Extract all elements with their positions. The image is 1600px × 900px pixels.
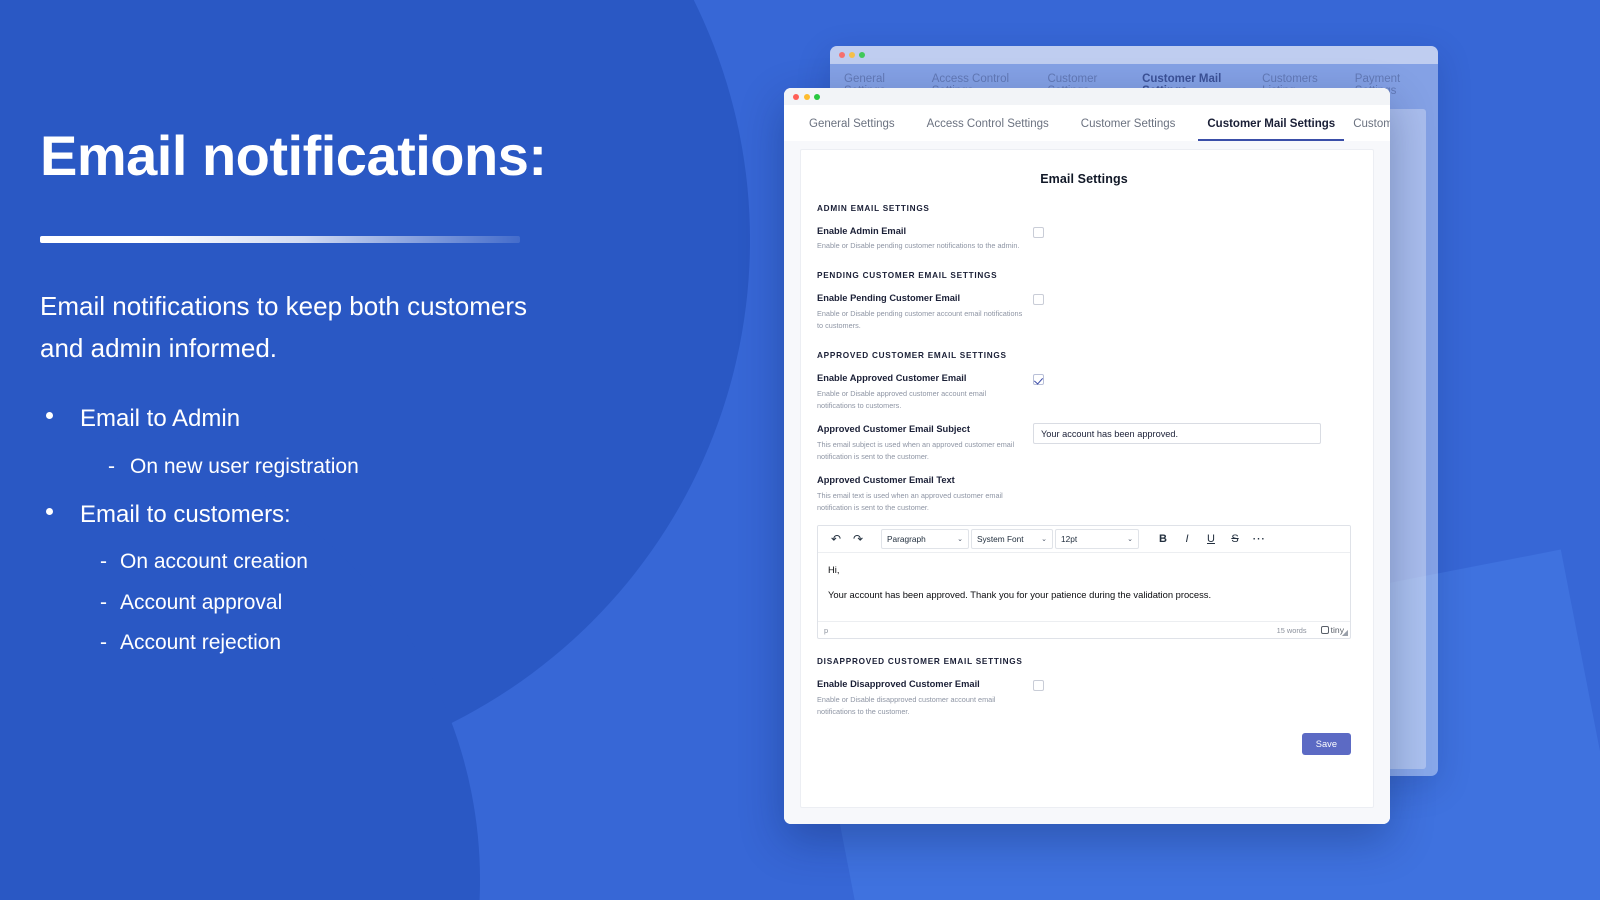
save-button[interactable]: Save	[1302, 733, 1351, 755]
editor-paragraph-2: Your account has been approved. Thank yo…	[828, 588, 1340, 602]
field-help-text: This email text is used when an approved…	[817, 490, 1025, 516]
field-label: Enable Approved Customer Email	[817, 372, 1025, 385]
list-item: Email to customers:	[40, 499, 700, 531]
field-label-col: Approved Customer Email Subject This ema…	[817, 423, 1025, 464]
field-help-text: This email subject is used when an appro…	[817, 439, 1025, 465]
field-label-col: Enable Pending Customer Email Enable or …	[817, 292, 1025, 333]
tab-general-settings[interactable]: General Settings	[800, 115, 904, 141]
field-label: Enable Disapproved Customer Email	[817, 678, 1025, 691]
tinymce-brand: tiny	[1321, 625, 1344, 635]
field-enable-admin-email: Enable Admin Email Enable or Disable pen…	[817, 225, 1351, 253]
underline-icon[interactable]: U	[1200, 533, 1222, 545]
chevron-down-icon: ⌄	[1041, 535, 1047, 543]
field-control-col	[1025, 225, 1351, 243]
tab-customers-listing[interactable]: Customers Listing	[1344, 115, 1390, 141]
bullet-sub-label: On new user registration	[130, 455, 359, 478]
settings-content-area: Email Settings ADMIN EMAIL SETTINGS Enab…	[784, 141, 1390, 824]
list-item: - Account approval	[40, 588, 700, 617]
close-icon[interactable]	[793, 94, 799, 100]
field-enable-approved-customer-email: Enable Approved Customer Email Enable or…	[817, 372, 1351, 413]
feature-sub-list: - On account creation - Account approval…	[40, 547, 700, 657]
field-control-col	[1025, 372, 1351, 390]
field-label-col: Enable Admin Email Enable or Disable pen…	[817, 225, 1025, 253]
block-format-select[interactable]: Paragraph ⌄	[881, 529, 969, 549]
tab-customer-mail-settings[interactable]: Customer Mail Settings	[1198, 115, 1344, 141]
field-label: Enable Admin Email	[817, 225, 1025, 238]
list-item: - Account rejection	[40, 628, 700, 657]
undo-icon[interactable]: ↶	[826, 529, 846, 549]
minimize-icon	[849, 52, 855, 58]
checkbox-enable-approved-customer-email[interactable]	[1033, 374, 1044, 385]
element-path[interactable]: p	[824, 626, 1277, 635]
more-options-icon[interactable]: ⋯	[1252, 531, 1266, 547]
field-label: Enable Pending Customer Email	[817, 292, 1025, 305]
list-item: Email to Admin	[40, 403, 700, 435]
editor-content-area[interactable]: Hi, Your account has been approved. Than…	[818, 553, 1350, 621]
maximize-icon	[859, 52, 865, 58]
rich-text-editor: ↶ ↷ Paragraph ⌄ System Font ⌄ 12pt ⌄	[817, 525, 1351, 639]
maximize-icon[interactable]	[814, 94, 820, 100]
promo-subhead: Email notifications to keep both custome…	[40, 285, 570, 369]
approved-customer-email-subject-input[interactable]	[1033, 423, 1321, 444]
promo-panel: Email notifications: Email notifications…	[40, 128, 700, 676]
feature-bullet-list: Email to Admin - On new user registratio…	[40, 403, 700, 657]
block-format-value: Paragraph	[887, 534, 926, 544]
bullet-dot-icon	[46, 412, 53, 419]
resize-handle-icon[interactable]: ◢	[1342, 628, 1348, 637]
field-enable-disapproved-customer-email: Enable Disapproved Customer Email Enable…	[817, 678, 1351, 719]
window-chrome-bar-back	[830, 46, 1438, 64]
tab-access-control-settings[interactable]: Access Control Settings	[918, 115, 1058, 141]
page-title: Email notifications:	[40, 128, 700, 184]
section-heading-admin: ADMIN EMAIL SETTINGS	[817, 204, 1351, 213]
close-icon	[839, 52, 845, 58]
chevron-down-icon: ⌄	[957, 535, 963, 543]
dash-icon: -	[100, 588, 107, 617]
section-heading-pending: PENDING CUSTOMER EMAIL SETTINGS	[817, 271, 1351, 280]
minimize-icon[interactable]	[804, 94, 810, 100]
browser-window: General Settings Access Control Settings…	[784, 88, 1390, 824]
field-help-text: Enable or Disable pending customer accou…	[817, 308, 1025, 334]
bullet-label: Email to customers:	[80, 501, 291, 528]
field-label: Approved Customer Email Subject	[817, 423, 1025, 436]
save-row: Save	[817, 733, 1351, 755]
editor-toolbar: ↶ ↷ Paragraph ⌄ System Font ⌄ 12pt ⌄	[818, 526, 1350, 553]
word-count: 15 words	[1277, 626, 1307, 635]
title-divider	[40, 236, 520, 243]
bold-icon[interactable]: B	[1152, 533, 1174, 545]
list-item: - On account creation	[40, 547, 700, 576]
checkbox-enable-pending-customer-email[interactable]	[1033, 294, 1044, 305]
tinymce-logo-icon	[1321, 626, 1329, 634]
field-approved-customer-email-text: Approved Customer Email Text This email …	[817, 474, 1351, 515]
list-item: - On new user registration	[40, 452, 700, 481]
field-enable-pending-customer-email: Enable Pending Customer Email Enable or …	[817, 292, 1351, 333]
tab-customer-settings[interactable]: Customer Settings	[1072, 115, 1185, 141]
bullet-sub-label: Account rejection	[120, 631, 281, 654]
feature-sub-list: - On new user registration	[40, 452, 700, 481]
field-control-col	[1025, 292, 1351, 310]
field-control-col	[1025, 678, 1351, 696]
field-approved-customer-email-subject: Approved Customer Email Subject This ema…	[817, 423, 1351, 464]
checkbox-enable-admin-email[interactable]	[1033, 227, 1044, 238]
editor-status-bar: p 15 words tiny ◢	[818, 621, 1350, 638]
font-family-value: System Font	[977, 534, 1024, 544]
strikethrough-icon[interactable]: S	[1224, 533, 1246, 545]
editor-paragraph-1: Hi,	[828, 563, 1340, 577]
section-heading-approved: APPROVED CUSTOMER EMAIL SETTINGS	[817, 351, 1351, 360]
dash-icon: -	[100, 628, 107, 657]
window-chrome-bar	[784, 88, 1390, 105]
field-control-col	[1025, 423, 1351, 444]
redo-icon[interactable]: ↷	[848, 529, 868, 549]
field-label: Approved Customer Email Text	[817, 474, 1025, 487]
dash-icon: -	[100, 547, 107, 576]
field-label-col: Enable Approved Customer Email Enable or…	[817, 372, 1025, 413]
font-family-select[interactable]: System Font ⌄	[971, 529, 1053, 549]
settings-tabbar: General Settings Access Control Settings…	[784, 105, 1390, 141]
chevron-down-icon: ⌄	[1127, 535, 1133, 543]
field-label-col: Approved Customer Email Text This email …	[817, 474, 1025, 515]
italic-icon[interactable]: I	[1176, 533, 1198, 545]
bullet-sub-label: Account approval	[120, 591, 282, 614]
dash-icon: -	[108, 452, 115, 481]
bullet-sub-label: On account creation	[120, 550, 308, 573]
field-help-text: Enable or Disable disapproved customer a…	[817, 694, 1025, 720]
checkbox-enable-disapproved-customer-email[interactable]	[1033, 680, 1044, 691]
font-size-value: 12pt	[1061, 534, 1077, 544]
card-title: Email Settings	[817, 172, 1351, 186]
field-help-text: Enable or Disable pending customer notif…	[817, 240, 1025, 253]
field-label-col: Enable Disapproved Customer Email Enable…	[817, 678, 1025, 719]
bullet-dot-icon	[46, 508, 53, 515]
font-size-select[interactable]: 12pt ⌄	[1055, 529, 1139, 549]
email-settings-card: Email Settings ADMIN EMAIL SETTINGS Enab…	[800, 149, 1374, 808]
bullet-label: Email to Admin	[80, 405, 240, 432]
section-heading-disapproved: DISAPPROVED CUSTOMER EMAIL SETTINGS	[817, 657, 1351, 666]
field-help-text: Enable or Disable approved customer acco…	[817, 388, 1025, 414]
